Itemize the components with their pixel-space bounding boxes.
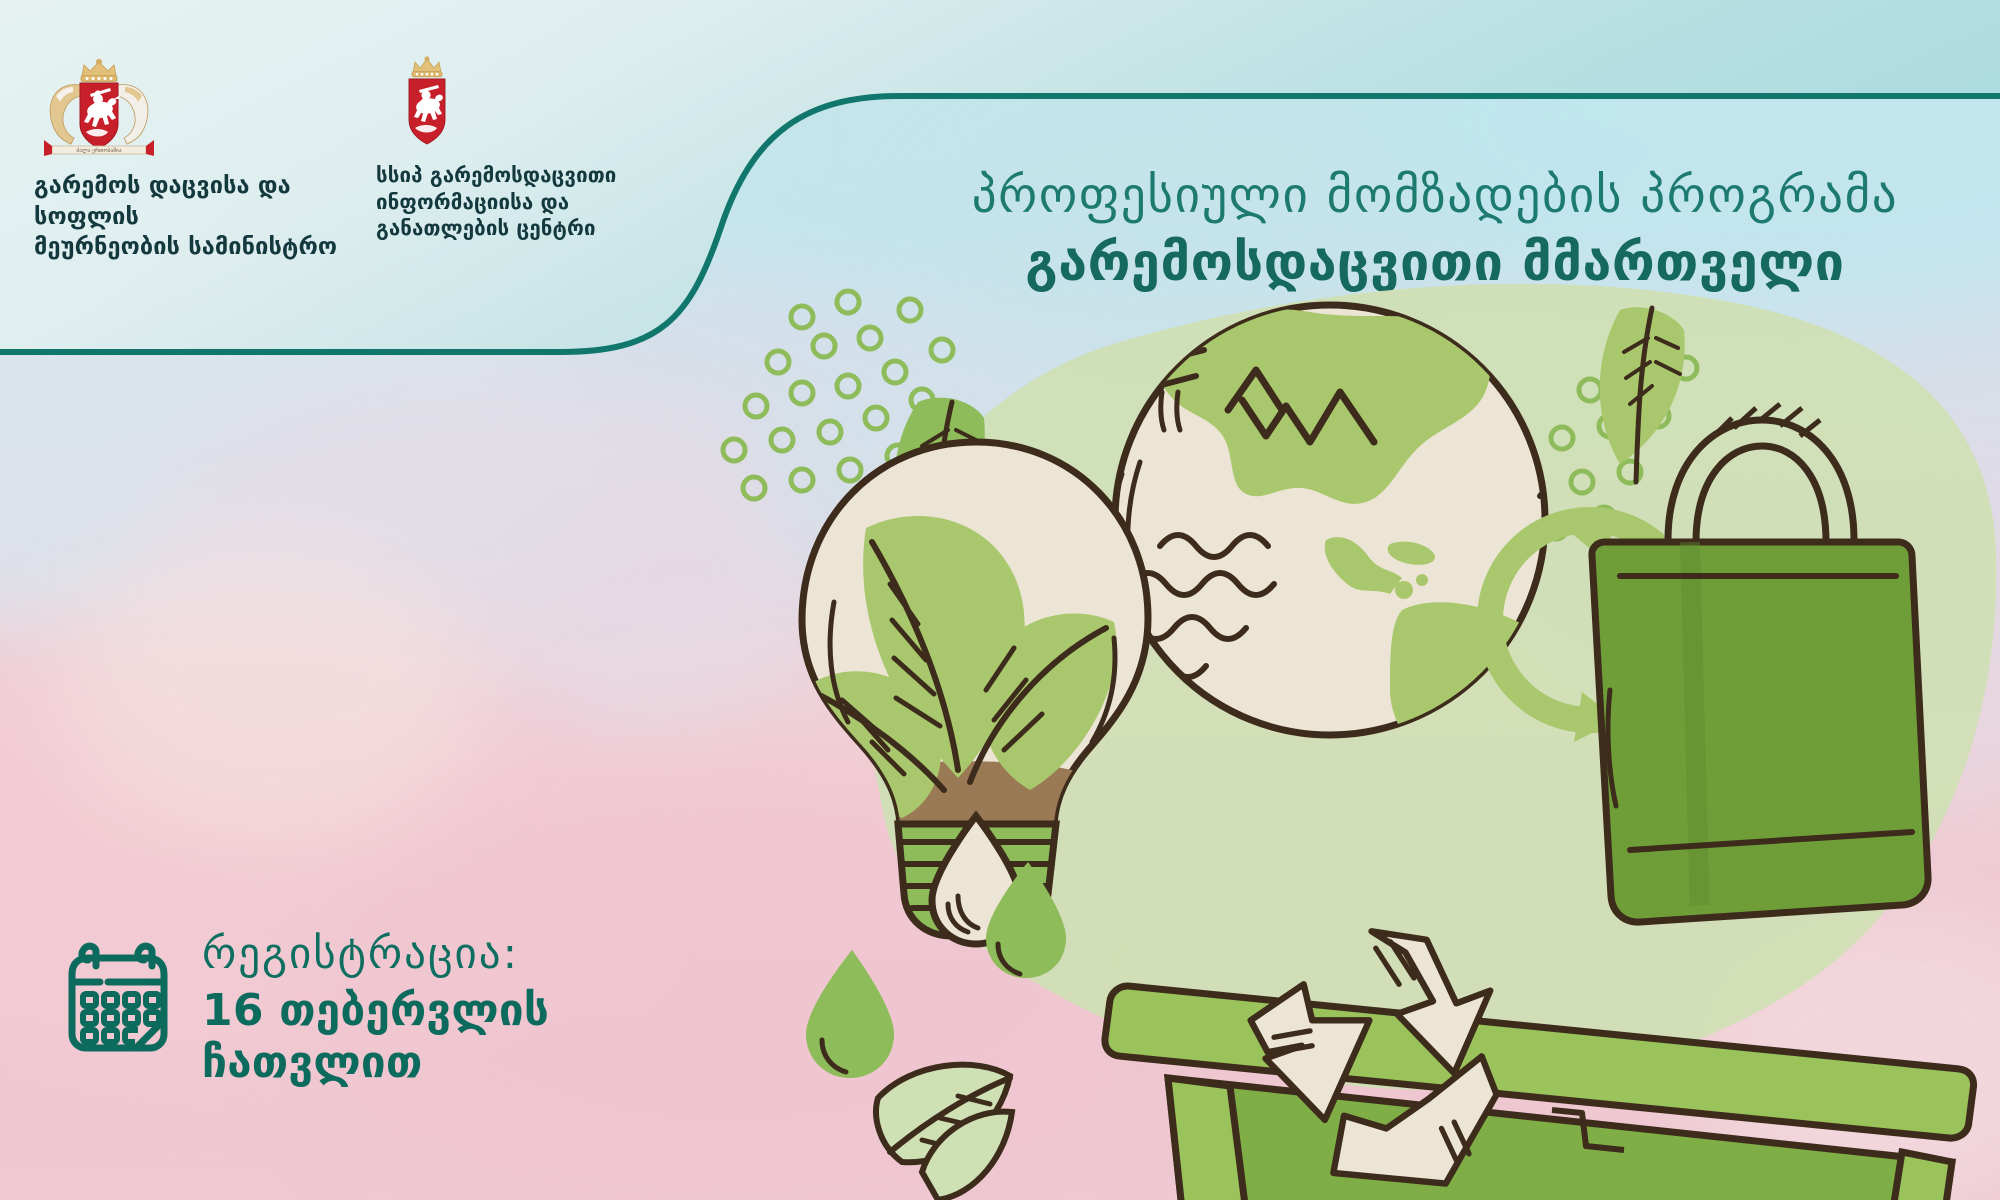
svg-text:ძალა ერთობაშია: ძალა ერთობაშია	[76, 147, 121, 154]
center-logo: სსიპ გარემოსდაცვითი ინფორმაციისა და განა…	[376, 52, 646, 242]
georgia-small-coat-of-arms-icon	[394, 52, 460, 148]
registration-label: რეგისტრაცია:	[202, 932, 549, 977]
poster-root: ძალა ერთობაშია გარემოს დაცვისა და სოფლის…	[0, 0, 2000, 1200]
ministry-logo: ძალა ერთობაშია გარემოს დაცვისა და სოფლის…	[34, 52, 364, 262]
title-line-1: პროფესიული მომზადების პროგრამა	[880, 170, 1990, 222]
registration-block: რეგისტრაცია: 16 თებერვლის ჩათვლით	[58, 930, 549, 1089]
center-logo-caption: სსიპ გარემოსდაცვითი ინფორმაციისა და განა…	[376, 162, 646, 242]
registration-deadline: 16 თებერვლის ჩათვლით	[202, 985, 549, 1089]
georgia-coat-of-arms-icon: ძალა ერთობაშია	[40, 52, 158, 160]
ministry-logo-caption: გარემოს დაცვისა და სოფლის მეურნეობის სამ…	[34, 170, 364, 262]
eco-illustration	[690, 250, 2000, 1200]
calendar-icon	[58, 938, 176, 1056]
